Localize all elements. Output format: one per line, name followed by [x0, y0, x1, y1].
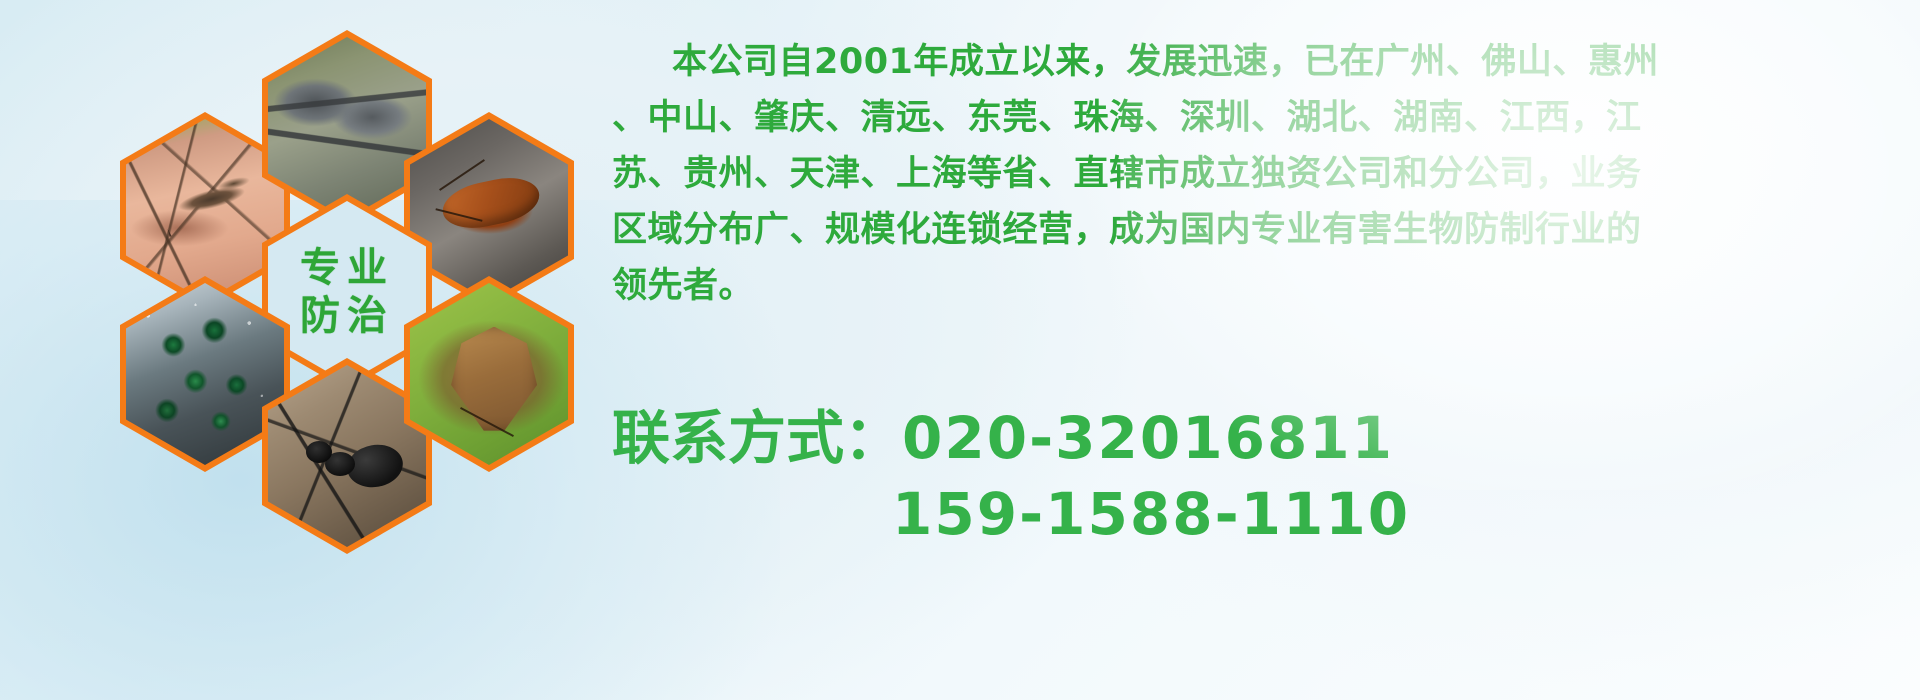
hex-badge-line-2: 防治 [300, 295, 394, 337]
intro-line: 苏、贵州、天津、上海等省、直辖市成立独资公司和分公司，业务 [612, 146, 1874, 202]
intro-line: 领先者。 [612, 258, 1874, 314]
intro-line: 、中山、肇庆、清远、东莞、珠海、深圳、湖北、湖南、江西，江 [612, 90, 1874, 146]
company-intro-paragraph: 本公司自2001年成立以来，发展迅速，已在广州、佛山、惠州 、中山、肇庆、清远、… [612, 34, 1874, 314]
contact-primary-line: 联系方式：020-32016811 [612, 400, 1902, 476]
contact-phone-1[interactable]: 020-32016811 [902, 404, 1394, 472]
hex-badge-line-1: 专业 [300, 247, 394, 289]
contact-phone-2[interactable]: 159-1588-1110 [612, 476, 1902, 552]
banner: 专业 防治 [0, 0, 1920, 700]
intro-line: 区域分布广、规模化连锁经营，成为国内专业有害生物防制行业的 [612, 202, 1874, 258]
contact-block: 联系方式：020-32016811 159-1588-1110 [612, 400, 1902, 552]
hexagon-photo-cluster: 专业 防治 [86, 8, 606, 568]
contact-label: 联系方式： [612, 404, 902, 472]
intro-line: 本公司自2001年成立以来，发展迅速，已在广州、佛山、惠州 [612, 34, 1874, 90]
